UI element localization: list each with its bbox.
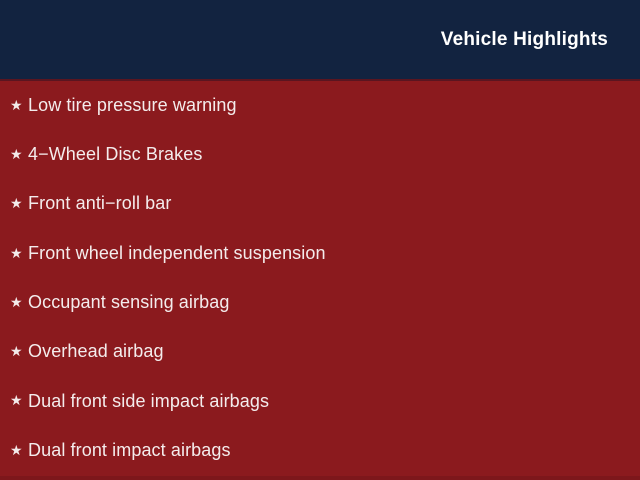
highlight-label: Overhead airbag bbox=[28, 342, 164, 362]
star-icon: ★ bbox=[10, 196, 28, 210]
highlights-list: ★Low tire pressure warning★4−Wheel Disc … bbox=[0, 81, 640, 475]
list-item: ★Dual front impact airbags bbox=[0, 426, 640, 475]
star-icon: ★ bbox=[10, 246, 28, 260]
star-icon: ★ bbox=[10, 443, 28, 457]
panel-bottom-edge bbox=[0, 476, 640, 480]
list-item: ★Front wheel independent suspension bbox=[0, 229, 640, 278]
star-icon: ★ bbox=[10, 147, 28, 161]
page-title: Vehicle Highlights bbox=[441, 30, 608, 49]
highlight-label: Front anti−roll bar bbox=[28, 194, 171, 214]
star-icon: ★ bbox=[10, 295, 28, 309]
highlight-label: Dual front side impact airbags bbox=[28, 392, 269, 412]
list-item: ★Front anti−roll bar bbox=[0, 180, 640, 229]
list-item: ★Occupant sensing airbag bbox=[0, 278, 640, 327]
highlight-label: Dual front impact airbags bbox=[28, 441, 231, 461]
highlights-panel: ★Low tire pressure warning★4−Wheel Disc … bbox=[0, 81, 640, 480]
list-item: ★Dual front side impact airbags bbox=[0, 377, 640, 426]
star-icon: ★ bbox=[10, 393, 28, 407]
star-icon: ★ bbox=[10, 344, 28, 358]
list-item: ★Low tire pressure warning bbox=[0, 81, 640, 130]
highlight-label: Occupant sensing airbag bbox=[28, 293, 229, 313]
highlight-label: Front wheel independent suspension bbox=[28, 244, 326, 264]
star-icon: ★ bbox=[10, 98, 28, 112]
vehicle-highlights-slide: Vehicle Highlights ★Low tire pressure wa… bbox=[0, 0, 640, 480]
list-item: ★4−Wheel Disc Brakes bbox=[0, 130, 640, 179]
highlight-label: 4−Wheel Disc Brakes bbox=[28, 145, 202, 165]
list-item: ★Overhead airbag bbox=[0, 327, 640, 376]
highlight-label: Low tire pressure warning bbox=[28, 96, 237, 116]
slide-header: Vehicle Highlights bbox=[0, 0, 640, 79]
